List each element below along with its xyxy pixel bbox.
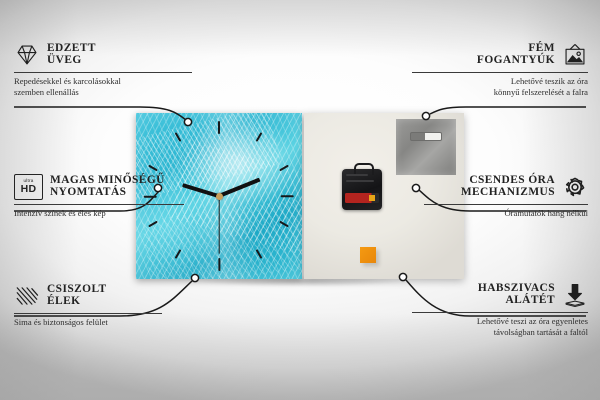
feature-metal-handles: FÉM FOGANTYÚK Lehetővé teszik az óra kön… [412,42,588,98]
feature-desc-line2: szemben ellenállás [14,87,192,98]
connector-metal-handles [430,107,586,114]
feature-desc-line1: Óramutatók hang nélkül [424,208,588,219]
feature-desc-line1: Lehetővé teszi az óra egyenletes [412,316,588,327]
feature-desc-line1: Sima és biztonságos felület [14,317,162,328]
picture-hanger-icon [562,42,588,68]
foam-pad-arrow-icon [562,282,588,308]
polished-edge-icon [14,283,40,309]
feature-divider [424,204,588,205]
endpoint-polished-edges [191,274,198,281]
ultra-hd-icon: ultra HD [14,174,43,200]
feature-title-line2: MECHANIZMUS [461,187,555,199]
feature-desc-line1: Lehetővé teszik az óra [412,76,588,87]
feature-divider [412,72,588,73]
feature-title-line2: ÉLEK [47,296,80,308]
feature-foam-pad: HABSZIVACS ALÁTÉT Lehetővé teszi az óra … [412,282,588,338]
endpoint-metal-handles [422,112,429,119]
feature-tempered-glass: EDZETT ÜVEG Repedésekkel és karcolásokka… [14,42,192,98]
feature-divider [14,313,162,314]
feature-title-line2: FOGANTYÚK [477,55,555,67]
endpoint-silent-mechanism [412,184,419,191]
feature-desc-line2: távolságban tartását a faltól [412,327,588,338]
endpoint-foam-pad [399,273,406,280]
ultra-hd-icon-main-text: HD [21,184,37,195]
diamond-icon [14,42,40,68]
feature-desc-line1: Intenzív színek és éles kép [14,208,184,219]
feature-divider [14,204,184,205]
feature-title-line2: ÜVEG [47,55,82,67]
feature-desc-line1: Repedésekkel és karcolásokkal [14,76,192,87]
gear-icon [562,174,588,200]
feature-desc-line2: könnyű felszerelését a falra [412,87,588,98]
feature-divider [412,312,588,313]
feature-polished-edges: CSISZOLT ÉLEK Sima és biztonságos felüle… [14,283,162,328]
feature-title-line2: ALÁTÉT [505,295,555,307]
feature-silent-mechanism: CSENDES ÓRA MECHANIZMUS Óramutatók hang … [424,174,588,219]
feature-title-line2: NYOMTATÁS [50,187,126,199]
endpoint-tempered-glass [184,118,191,125]
feature-high-quality-print: ultra HD MAGAS MINŐSÉGŰ NYOMTATÁS Intenz… [14,174,184,219]
connector-tempered-glass [14,107,186,120]
feature-divider [14,72,192,73]
infographic-canvas: EDZETT ÜVEG Repedésekkel és karcolásokka… [0,0,600,400]
